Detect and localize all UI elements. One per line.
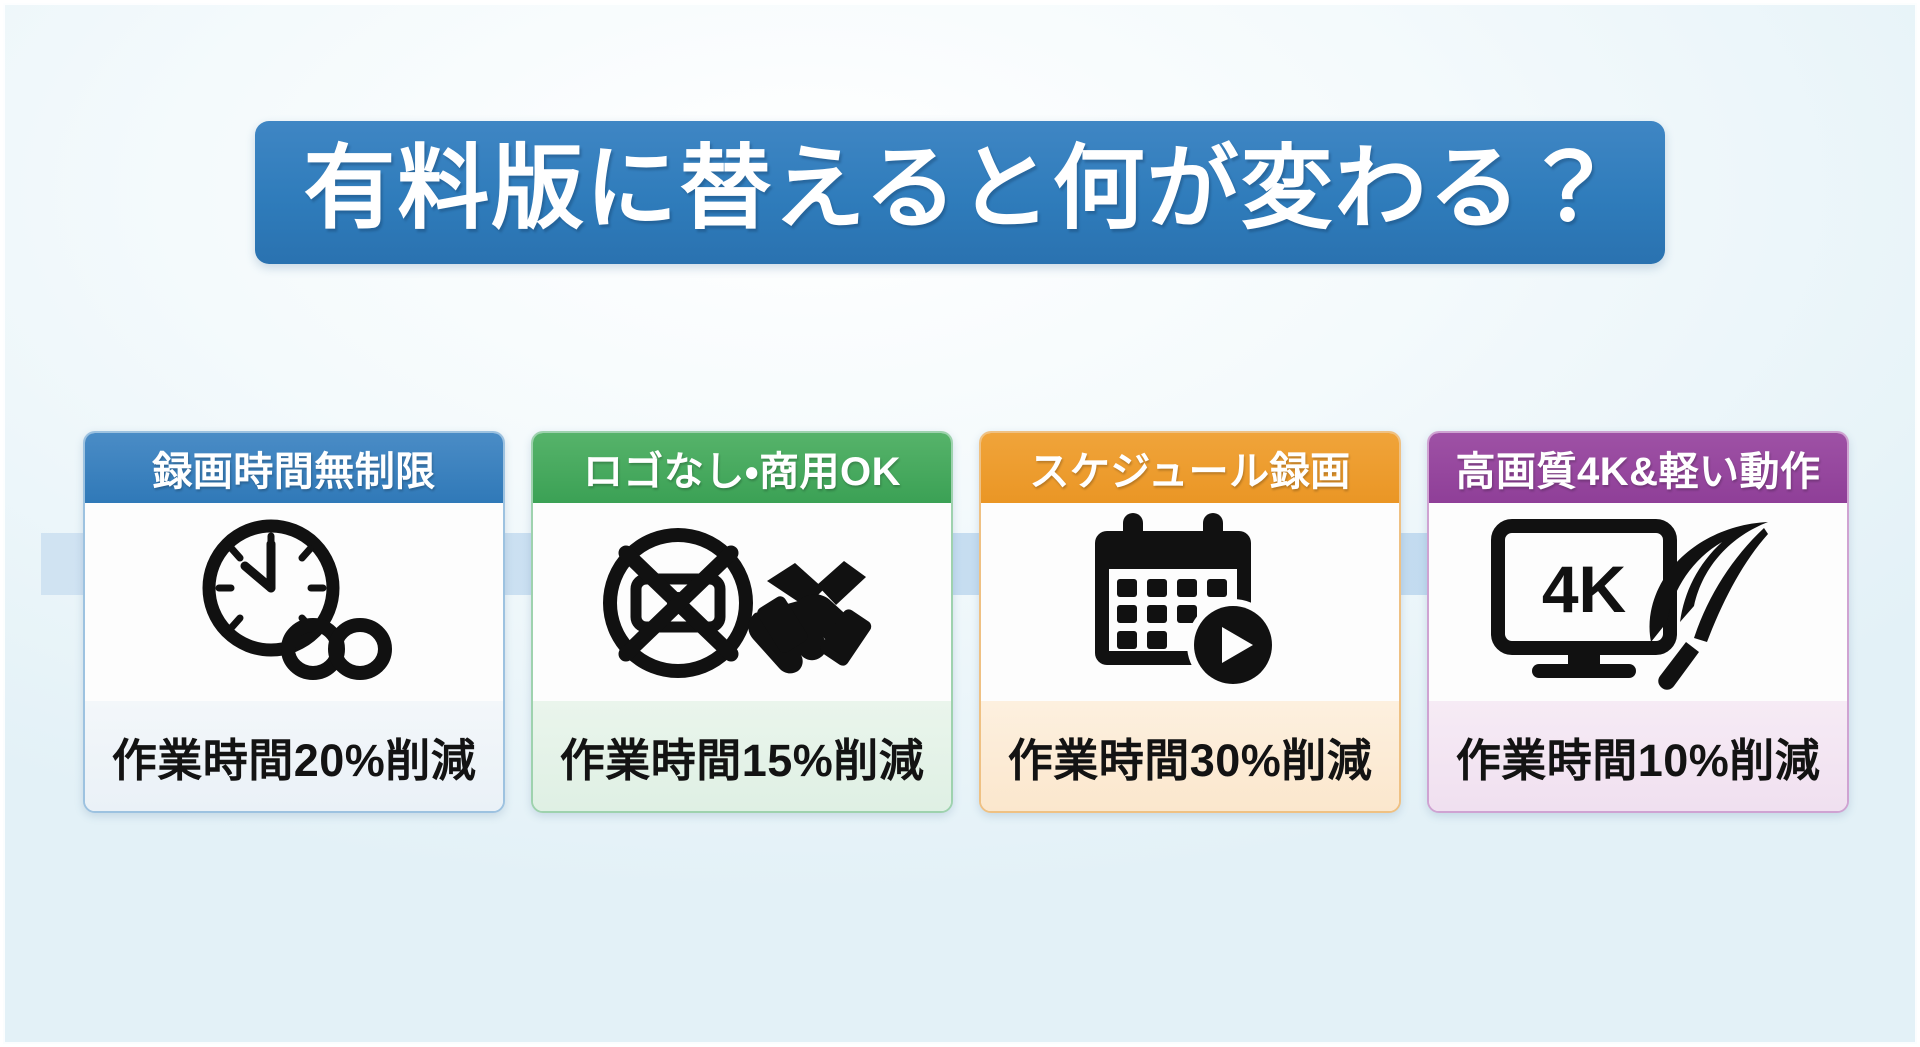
clock-infinity-icon xyxy=(85,503,503,701)
card-illustration xyxy=(85,503,503,701)
card-footer-label: 作業時間30%削減 xyxy=(981,701,1399,811)
card-illustration xyxy=(981,503,1399,701)
title-area: 有料版に替えると何が変わる？ xyxy=(3,121,1917,264)
card-footer-label: 作業時間20%削減 xyxy=(85,701,503,811)
monitor-4k-feather-icon: 4K xyxy=(1429,503,1847,701)
monitor-4k-label: 4K xyxy=(1542,552,1627,626)
calendar-play-icon xyxy=(981,503,1399,701)
card-header-label: 高画質4K&軽い動作 xyxy=(1429,433,1847,503)
feature-card-recording-unlimited[interactable]: 録画時間無制限 xyxy=(83,431,505,813)
title-banner: 有料版に替えると何が変わる？ xyxy=(255,121,1664,264)
page-title: 有料版に替えると何が変わる？ xyxy=(303,141,1616,238)
card-header-label: 録画時間無制限 xyxy=(85,433,503,503)
feature-card-scheduled-recording[interactable]: スケジュール録画 xyxy=(979,431,1401,813)
slide-canvas: 有料版に替えると何が変わる？ 録画時間無制限 xyxy=(0,0,1920,1047)
card-header-label: ロゴなし・商用OK xyxy=(533,433,951,503)
card-illustration xyxy=(533,503,951,701)
feature-card-no-logo-commercial[interactable]: ロゴなし・商用OK xyxy=(531,431,953,813)
card-footer-label: 作業時間10%削減 xyxy=(1429,701,1847,811)
feature-card-list: 録画時間無制限 xyxy=(83,431,1849,813)
card-header-label: スケジュール録画 xyxy=(981,433,1399,503)
feature-card-4k-lightweight[interactable]: 高画質4K&軽い動作 4K xyxy=(1427,431,1849,813)
card-footer-label: 作業時間15%削減 xyxy=(533,701,951,811)
card-illustration: 4K xyxy=(1429,503,1847,701)
no-logo-handshake-icon xyxy=(533,503,951,701)
